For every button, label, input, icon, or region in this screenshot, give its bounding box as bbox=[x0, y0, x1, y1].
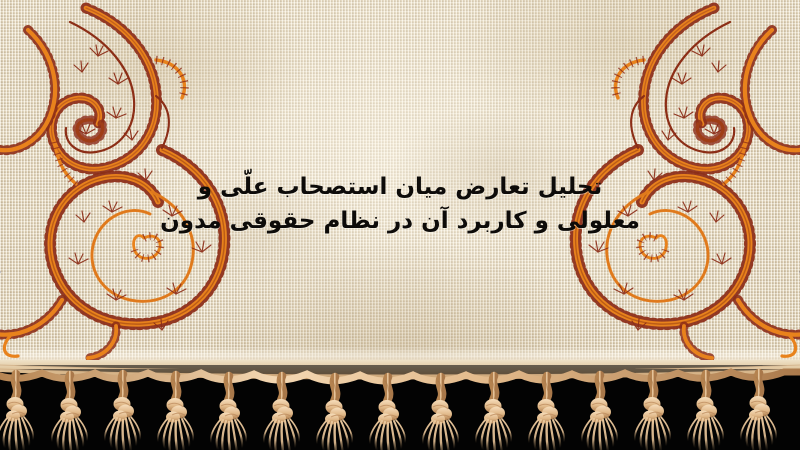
title-line-1: تحلیل تعارض میان استصحاب علّی و bbox=[0, 170, 800, 204]
title-line-2: معلولی و کاربرد آن در نظام حقوقی مدون bbox=[0, 204, 800, 238]
slide-title: تحلیل تعارض میان استصحاب علّی و معلولی و… bbox=[0, 170, 800, 238]
tassel-fringe bbox=[0, 360, 800, 450]
slide-canvas: تحلیل تعارض میان استصحاب علّی و معلولی و… bbox=[0, 0, 800, 450]
